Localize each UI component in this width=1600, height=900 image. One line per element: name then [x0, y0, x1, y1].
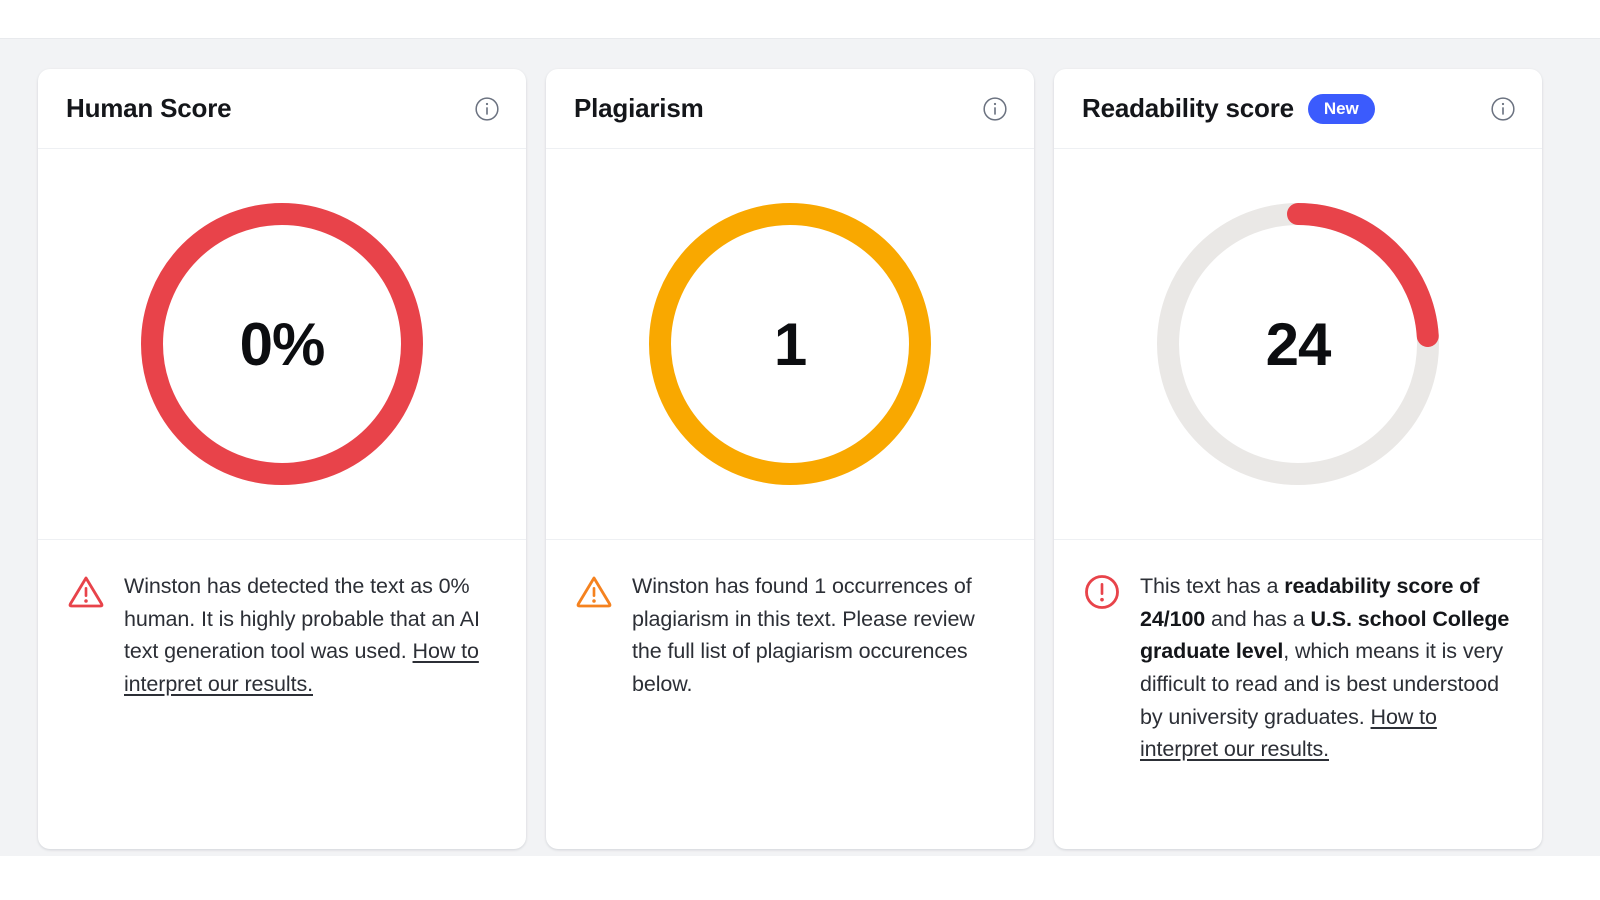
gauge-area: 1: [546, 149, 1034, 540]
score-card: Plagiarism1Winston has found 1 occurrenc…: [546, 69, 1034, 849]
gauge-area: 0%: [38, 149, 526, 540]
card-footer: Winston has detected the text as 0% huma…: [38, 540, 526, 849]
message-text: Winston has found 1 occurrences of plagi…: [632, 574, 975, 696]
message-text: and has a: [1205, 607, 1310, 631]
card-footer: Winston has found 1 occurrences of plagi…: [546, 540, 1034, 849]
card-title: Human Score: [66, 93, 231, 124]
score-gauge: 24: [1148, 194, 1448, 494]
info-circle-icon[interactable]: [982, 96, 1008, 122]
card-header: Human Score: [38, 69, 526, 149]
score-card: Human Score0%Winston has detected the te…: [38, 69, 526, 849]
results-panel: Human Score0%Winston has detected the te…: [0, 38, 1600, 856]
message-text: This text has a: [1140, 574, 1284, 598]
card-header: Readability scoreNew: [1054, 69, 1542, 149]
card-title: Readability score: [1082, 93, 1294, 124]
gauge-area: 24: [1054, 149, 1542, 540]
warning-triangle-icon: [574, 572, 614, 612]
gauge-value-label: 1: [640, 194, 940, 494]
gauge-value-label: 0%: [132, 194, 432, 494]
info-circle-icon[interactable]: [474, 96, 500, 122]
card-message: Winston has detected the text as 0% huma…: [124, 570, 500, 701]
score-card: Readability scoreNew24This text has a re…: [1054, 69, 1542, 849]
new-badge: New: [1308, 94, 1375, 124]
exclamation-circle-icon: [1082, 572, 1122, 612]
warning-triangle-icon: [66, 572, 106, 612]
card-message: Winston has found 1 occurrences of plagi…: [632, 570, 1008, 701]
card-message: This text has a readability score of 24/…: [1140, 570, 1516, 766]
card-title: Plagiarism: [574, 93, 704, 124]
score-gauge: 0%: [132, 194, 432, 494]
info-circle-icon[interactable]: [1490, 96, 1516, 122]
score-cards-row: Human Score0%Winston has detected the te…: [38, 69, 1542, 849]
card-footer: This text has a readability score of 24/…: [1054, 540, 1542, 849]
gauge-value-label: 24: [1148, 194, 1448, 494]
card-header: Plagiarism: [546, 69, 1034, 149]
score-gauge: 1: [640, 194, 940, 494]
